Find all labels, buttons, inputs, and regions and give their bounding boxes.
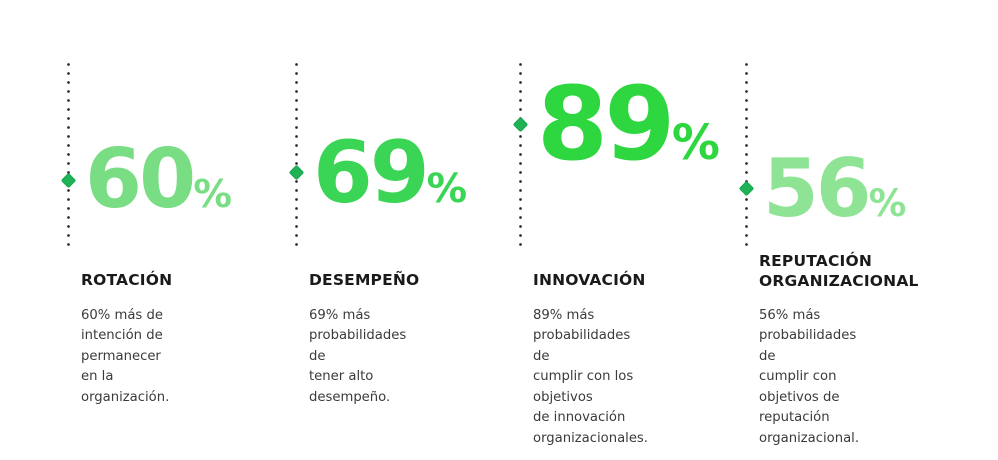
stat-number: 69 — [313, 123, 427, 223]
diamond-marker-icon — [513, 117, 529, 133]
stat-description-desempeno: 69% más probabilidades de tener alto des… — [309, 306, 406, 408]
stat-value-rotacion: 60% — [85, 139, 231, 221]
diamond-marker-icon — [289, 165, 305, 181]
dotted-rule-icon — [745, 60, 748, 252]
stat-heading-rotacion: ROTACIÓN — [81, 270, 172, 290]
stat-description-innovacion: 89% más probabilidades de cumplir con lo… — [533, 306, 648, 449]
stat-value-reputacion: 56% — [763, 149, 906, 229]
stat-number: 89 — [537, 65, 672, 184]
stat-description-rotacion: 60% más de intención de permanecer en la… — [81, 306, 169, 408]
dotted-rule-icon — [295, 60, 298, 252]
diamond-marker-icon — [61, 173, 77, 189]
stat-number: 60 — [85, 132, 193, 227]
diamond-marker-icon — [739, 181, 755, 197]
stat-value-desempeno: 69% — [313, 130, 466, 216]
stat-heading-reputacion: REPUTACIÓN ORGANIZACIONAL — [759, 251, 919, 292]
percent-symbol: % — [869, 181, 906, 225]
stat-description-reputacion: 56% más probabilidades de cumplir con ob… — [759, 306, 859, 449]
percent-symbol: % — [193, 172, 231, 217]
stat-value-innovacion: 89% — [537, 74, 719, 176]
percent-symbol: % — [427, 164, 467, 212]
stat-heading-innovacion: INNOVACIÓN — [533, 270, 646, 290]
dotted-rule-icon — [67, 60, 70, 252]
infographic-board: 60% ROTACIÓN 60% más de intención de per… — [0, 0, 998, 460]
percent-symbol: % — [672, 116, 719, 171]
stat-heading-desempeno: DESEMPEÑO — [309, 270, 419, 290]
dotted-rule-icon — [519, 60, 522, 252]
stat-number: 56 — [763, 142, 869, 235]
